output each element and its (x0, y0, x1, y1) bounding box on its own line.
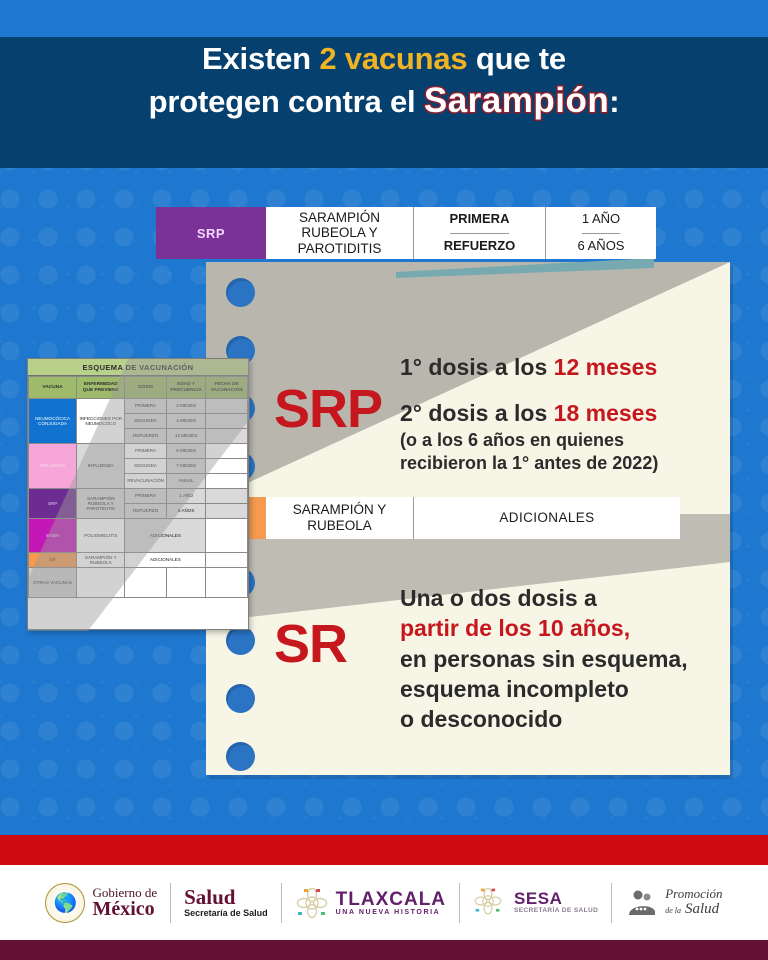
title-text-post: que te (467, 41, 566, 76)
schedule-col-fecha: FECHA DE VACUNACIÓN (206, 377, 248, 399)
title-line-2: protegen contra el Sarampión: (0, 80, 768, 123)
schedule-disease-neumococo: INFECCIONES POR NEUMOCOCO (77, 399, 125, 444)
srp-line2-highlight: 18 meses (554, 400, 658, 426)
schedule-date (206, 399, 248, 414)
schedule-age: 6 AÑOS (166, 504, 205, 519)
srp-age-1: 1 AÑO (582, 207, 620, 234)
title-highlight: 2 vacunas (319, 41, 467, 76)
sesa-flower-icon (473, 886, 507, 920)
schedule-header-row: VACUNA ENFERMEDAD QUE PREVIENE DOSIS EDA… (29, 377, 248, 399)
gobierno-line-2: México (92, 899, 157, 919)
schedule-dose: PRIMERA (125, 444, 167, 459)
logo-sesa: SESA SECRETARÍA DE SALUD (460, 879, 611, 927)
page-title: Existen 2 vacunas que te protegen contra… (0, 40, 768, 123)
schedule-col-vacuna: VACUNA (29, 377, 77, 399)
salud-line-1: Salud (184, 887, 268, 908)
schedule-dose (125, 568, 167, 598)
srp-line2-text: 2° dosis a los (400, 400, 554, 426)
tlaxcala-flower-icon (295, 886, 329, 920)
table-row: SABIN POLIOMIELITIS ADICIONALES (29, 519, 248, 553)
sr-line-5: o desconocido (400, 704, 745, 734)
salud-line-2: Secretaría de Salud (184, 908, 268, 918)
schedule-dose: REFUERZO (125, 504, 167, 519)
srp-note-line-1: (o a los 6 años en quienes (400, 429, 740, 452)
promocion-line-1: Promoción (665, 887, 722, 901)
schedule-age: ANUAL (166, 474, 205, 489)
salud-text: Salud Secretaría de Salud (184, 887, 268, 918)
schedule-date (206, 504, 248, 519)
schedule-date (206, 444, 248, 459)
sr-note-cell: ADICIONALES (414, 497, 680, 539)
sr-line-4: esquema incompleto (400, 674, 745, 704)
schedule-vaccine-sabin: SABIN (29, 519, 77, 553)
schedule-disease-sr: SARAMPIÓN Y RUBEOLA (77, 553, 125, 568)
schedule-age: 7 MESES (166, 459, 205, 474)
promocion-people-icon (625, 889, 659, 917)
tlaxcala-text: TLAXCALA UNA NUEVA HISTORIA (336, 890, 446, 916)
infographic-canvas: Existen 2 vacunas que te protegen contra… (0, 0, 768, 960)
schedule-disease (77, 568, 125, 598)
schedule-dose: ADICIONALES (125, 519, 206, 553)
binding-hole (226, 626, 255, 655)
schedule-age: 4 MESES (166, 414, 205, 429)
srp-disease-cell: SARAMPIÓN RUBEOLA Y PAROTIDITIS (266, 207, 414, 259)
sesa-line-1: SESA (514, 890, 598, 907)
schedule-date (206, 519, 248, 553)
tlaxcala-line-2: UNA NUEVA HISTORIA (336, 909, 446, 916)
title-text-pre-2: protegen contra el (149, 84, 424, 119)
schedule-vaccine-otras: OTRAS VACUNAS (29, 568, 77, 598)
srp-note-line-2: recibieron la 1° antes de 2022) (400, 452, 740, 475)
vaccination-schedule-card: ESQUEMA DE VACUNACIÓN VACUNA ENFERMEDAD … (27, 358, 249, 630)
schedule-vaccine-sr: SR (29, 553, 77, 568)
srp-big-label: SRP (274, 378, 382, 440)
srp-line1-highlight: 12 meses (554, 354, 658, 380)
schedule-date (206, 553, 248, 568)
title-word-sarampion: Sarampión (424, 80, 609, 123)
binding-hole (226, 684, 255, 713)
schedule-dose: SEGUNDA (125, 414, 167, 429)
schedule-table: VACUNA ENFERMEDAD QUE PREVIENE DOSIS EDA… (28, 376, 248, 598)
schedule-date (206, 429, 248, 444)
schedule-dose: SEGUNDA (125, 459, 167, 474)
srp-age-cell: 1 AÑO 6 AÑOS (546, 207, 656, 259)
schedule-vaccine-influenza: INFLUENZA (29, 444, 77, 489)
schedule-dose: ADICIONALES (125, 553, 206, 568)
promocion-line-3: Salud (685, 901, 719, 917)
binding-hole (226, 278, 255, 307)
title-colon: : (609, 84, 619, 119)
schedule-col-enfermedad: ENFERMEDAD QUE PREVIENE (77, 377, 125, 399)
schedule-age: 12 MESES (166, 429, 205, 444)
footer-logo-bar: 🌎 Gobierno de México Salud Secretaría de… (0, 865, 768, 940)
sr-line-1: Una o dos dosis a (400, 583, 745, 613)
logo-salud: Salud Secretaría de Salud (171, 879, 281, 927)
srp-table-row: SRP SARAMPIÓN RUBEOLA Y PAROTIDITIS PRIM… (156, 207, 656, 259)
schedule-disease-influenza: INFLUENZA (77, 444, 125, 489)
sr-copy-block: Una o dos dosis a partir de los 10 años,… (400, 583, 745, 735)
logo-tlaxcala: TLAXCALA UNA NUEVA HISTORIA (282, 879, 459, 927)
srp-copy-block: 1° dosis a los 12 meses 2° dosis a los 1… (400, 352, 740, 475)
schedule-date (206, 489, 248, 504)
schedule-date (206, 568, 248, 598)
promocion-line-2: de la (665, 906, 681, 915)
top-accent-strip (0, 0, 768, 37)
srp-dose-line-2: 2° dosis a los 18 meses (400, 398, 740, 428)
mexican-eagle-seal-icon: 🌎 (45, 883, 85, 923)
schedule-dose: PRIMERA (125, 399, 167, 414)
srp-dose-line-1: 1° dosis a los 12 meses (400, 352, 740, 382)
binding-hole (226, 742, 255, 771)
table-row: SR SARAMPIÓN Y RUBEOLA ADICIONALES (29, 553, 248, 568)
schedule-col-dosis: DOSIS (125, 377, 167, 399)
sr-line-2: partir de los 10 años, (400, 613, 745, 643)
schedule-date (206, 459, 248, 474)
srp-tag-cell: SRP (156, 207, 266, 259)
schedule-vaccine-srp: SRP (29, 489, 77, 519)
table-row: SRP SARAMPIÓN RUBEOLA Y PAROTIDITIS PRIM… (29, 489, 248, 504)
table-row: INFLUENZA INFLUENZA PRIMERA 6 MESES (29, 444, 248, 459)
logo-promocion-de-la-salud: Promoción de la Salud (612, 879, 735, 927)
sesa-text: SESA SECRETARÍA DE SALUD (514, 890, 598, 915)
schedule-date (206, 474, 248, 489)
schedule-dose: PRIMERA (125, 489, 167, 504)
table-row: NEUMOCÓCICA CONJUGADA INFECCIONES POR NE… (29, 399, 248, 414)
bottom-maroon-band (0, 940, 768, 960)
srp-line1-text: 1° dosis a los (400, 354, 554, 380)
sesa-line-2: SECRETARÍA DE SALUD (514, 907, 598, 915)
schedule-disease-srp: SARAMPIÓN RUBEOLA Y PAROTIDITIS (77, 489, 125, 519)
spacer (400, 382, 740, 398)
srp-age-2: 6 AÑOS (578, 234, 625, 260)
sr-line-3: en personas sin esquema, (400, 644, 745, 674)
schedule-vaccine-neumococica: NEUMOCÓCICA CONJUGADA (29, 399, 77, 444)
schedule-title: ESQUEMA DE VACUNACIÓN (28, 359, 248, 376)
tlaxcala-line-1: TLAXCALA (336, 890, 446, 909)
schedule-age (166, 568, 205, 598)
red-divider-band (0, 835, 768, 865)
title-line-1: Existen 2 vacunas que te (0, 40, 768, 78)
schedule-age: 1 AÑO (166, 489, 205, 504)
promocion-text: Promoción de la Salud (665, 887, 722, 917)
schedule-dose: REVACUNACIÓN (125, 474, 167, 489)
schedule-disease-poliomielitis: POLIOMIELITIS (77, 519, 125, 553)
sr-big-label: SR (274, 613, 347, 675)
title-text-pre: Existen (202, 41, 319, 76)
schedule-date (206, 414, 248, 429)
sr-disease-cell: SARAMPIÓN Y RUBEOLA (266, 497, 414, 539)
schedule-age: 2 MESES (166, 399, 205, 414)
table-row: OTRAS VACUNAS (29, 568, 248, 598)
gobierno-text: Gobierno de México (92, 886, 157, 919)
srp-dose-cell: PRIMERA REFUERZO (414, 207, 546, 259)
logo-gobierno-de-mexico: 🌎 Gobierno de México (32, 879, 170, 927)
schedule-dose: REFUERZO (125, 429, 167, 444)
srp-dose-1: PRIMERA (450, 207, 510, 234)
srp-dose-2: REFUERZO (444, 234, 516, 260)
schedule-age: 6 MESES (166, 444, 205, 459)
schedule-col-edad: EDAD Y FRECUENCIA (166, 377, 205, 399)
